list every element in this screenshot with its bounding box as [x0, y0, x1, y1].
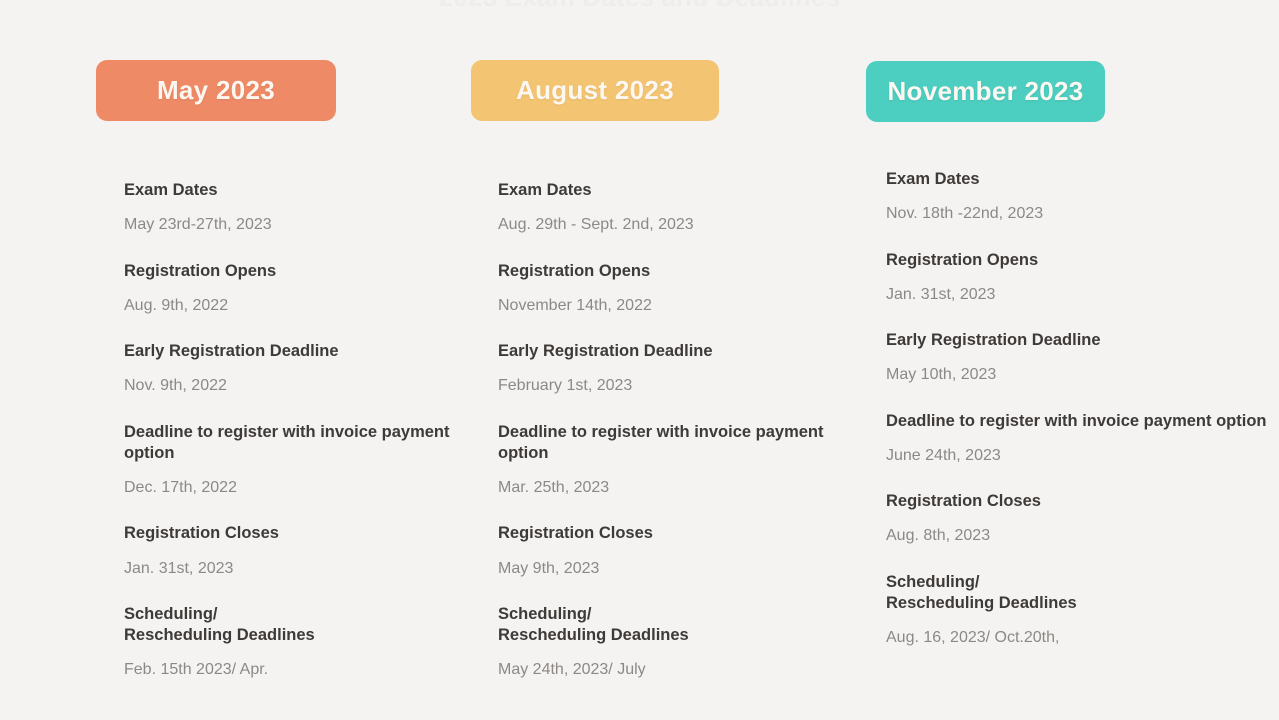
entry-item: Scheduling/Rescheduling Deadlines Aug. 1… — [886, 572, 1276, 649]
entry-list: Exam Dates Nov. 18th -22nd, 2023 Registr… — [886, 169, 1276, 674]
entry-value: Aug. 29th - Sept. 2nd, 2023 — [498, 215, 878, 235]
entry-item: Deadline to register with invoice paymen… — [124, 422, 494, 499]
month-badge-august[interactable]: August 2023 — [471, 60, 719, 121]
entry-list: Exam Dates May 23rd-27th, 2023 Registrat… — [124, 180, 494, 706]
month-columns: May 2023 Exam Dates May 23rd-27th, 2023 … — [0, 0, 1279, 720]
entry-label: Scheduling/Rescheduling Deadlines — [124, 604, 494, 646]
month-badge-label: November 2023 — [887, 76, 1083, 107]
entry-label: Early Registration Deadline — [498, 341, 878, 362]
entry-value: November 14th, 2022 — [498, 296, 878, 316]
entry-item: Registration Closes May 9th, 2023 — [498, 523, 878, 579]
entry-list: Exam Dates Aug. 29th - Sept. 2nd, 2023 R… — [498, 180, 878, 706]
entry-item: Early Registration Deadline February 1st… — [498, 341, 878, 397]
month-badge-label: August 2023 — [516, 75, 674, 106]
entry-value: Aug. 8th, 2023 — [886, 526, 1276, 546]
exam-schedule-page: 2023 Exam Dates and Deadlines May 2023 E… — [0, 0, 1279, 720]
entry-label: Registration Opens — [124, 261, 494, 282]
entry-item: Exam Dates Nov. 18th -22nd, 2023 — [886, 169, 1276, 225]
entry-item: Registration Opens Aug. 9th, 2022 — [124, 261, 494, 317]
entry-item: Registration Closes Jan. 31st, 2023 — [124, 523, 494, 579]
entry-item: Registration Opens November 14th, 2022 — [498, 261, 878, 317]
entry-value: Aug. 16, 2023/ Oct.20th, — [886, 628, 1276, 648]
entry-label: Exam Dates — [886, 169, 1276, 190]
month-column-august: August 2023 Exam Dates Aug. 29th - Sept.… — [471, 0, 851, 720]
entry-label: Early Registration Deadline — [886, 330, 1276, 351]
entry-label: Exam Dates — [498, 180, 878, 201]
entry-value: May 24th, 2023/ July — [498, 660, 878, 680]
entry-value: Nov. 9th, 2022 — [124, 376, 494, 396]
month-badge-label: May 2023 — [157, 75, 275, 106]
entry-item: Early Registration Deadline Nov. 9th, 20… — [124, 341, 494, 397]
entry-label: Registration Opens — [886, 250, 1276, 271]
entry-label: Registration Opens — [498, 261, 878, 282]
entry-value: May 10th, 2023 — [886, 365, 1276, 385]
entry-value: Jan. 31st, 2023 — [124, 559, 494, 579]
entry-label: Scheduling/Rescheduling Deadlines — [498, 604, 878, 646]
entry-item: Registration Opens Jan. 31st, 2023 — [886, 250, 1276, 306]
entry-item: Registration Closes Aug. 8th, 2023 — [886, 491, 1276, 547]
entry-label: Early Registration Deadline — [124, 341, 494, 362]
entry-value: Aug. 9th, 2022 — [124, 296, 494, 316]
entry-label: Scheduling/Rescheduling Deadlines — [886, 572, 1276, 614]
month-badge-may[interactable]: May 2023 — [96, 60, 336, 121]
entry-label: Deadline to register with invoice paymen… — [886, 411, 1276, 432]
entry-value: Jan. 31st, 2023 — [886, 285, 1276, 305]
month-column-november: November 2023 Exam Dates Nov. 18th -22nd… — [866, 0, 1256, 720]
entry-item: Scheduling/Rescheduling Deadlines Feb. 1… — [124, 604, 494, 681]
entry-value: May 9th, 2023 — [498, 559, 878, 579]
entry-value: Nov. 18th -22nd, 2023 — [886, 204, 1276, 224]
entry-value: Dec. 17th, 2022 — [124, 478, 494, 498]
entry-value: May 23rd-27th, 2023 — [124, 215, 494, 235]
entry-value: February 1st, 2023 — [498, 376, 878, 396]
entry-item: Scheduling/Rescheduling Deadlines May 24… — [498, 604, 878, 681]
entry-value: June 24th, 2023 — [886, 446, 1276, 466]
entry-item: Exam Dates May 23rd-27th, 2023 — [124, 180, 494, 236]
entry-label: Registration Closes — [498, 523, 878, 544]
entry-label: Exam Dates — [124, 180, 494, 201]
entry-label: Registration Closes — [886, 491, 1276, 512]
entry-label: Deadline to register with invoice paymen… — [124, 422, 494, 464]
entry-label: Deadline to register with invoice paymen… — [498, 422, 878, 464]
month-badge-november[interactable]: November 2023 — [866, 61, 1105, 122]
entry-item: Deadline to register with invoice paymen… — [498, 422, 878, 499]
entry-value: Feb. 15th 2023/ Apr. — [124, 660, 494, 680]
entry-label: Registration Closes — [124, 523, 494, 544]
entry-item: Early Registration Deadline May 10th, 20… — [886, 330, 1276, 386]
month-column-may: May 2023 Exam Dates May 23rd-27th, 2023 … — [96, 0, 466, 720]
entry-value: Mar. 25th, 2023 — [498, 478, 878, 498]
entry-item: Deadline to register with invoice paymen… — [886, 411, 1276, 467]
entry-item: Exam Dates Aug. 29th - Sept. 2nd, 2023 — [498, 180, 878, 236]
